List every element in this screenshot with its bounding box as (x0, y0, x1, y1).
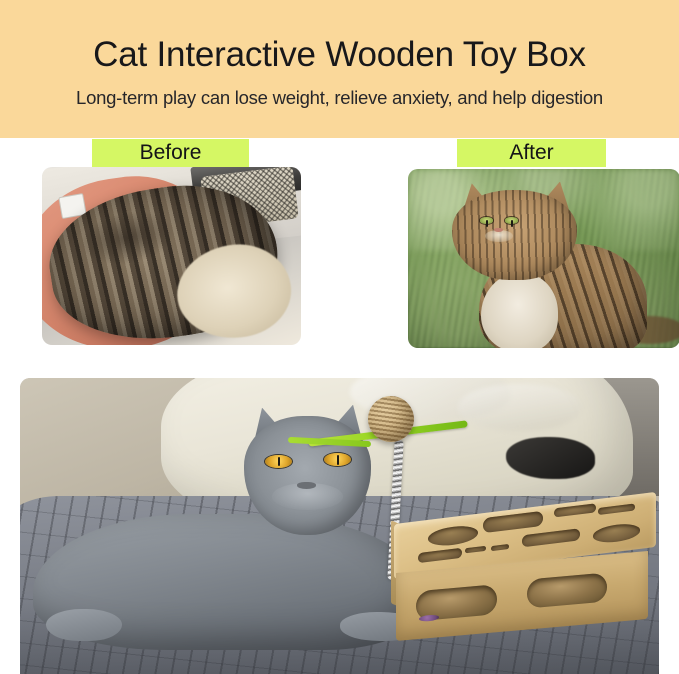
wooden-toy-box (394, 508, 656, 638)
cat-head-crown (79, 206, 177, 270)
toy-box-side-opening (527, 572, 607, 609)
before-photo-scene (42, 167, 301, 345)
cat-nose (494, 228, 503, 232)
after-label: After (457, 139, 606, 167)
gray-cat-eye-left (265, 455, 292, 468)
blanket-fold (458, 384, 581, 432)
toy-box-hole (598, 503, 635, 515)
page-title: Cat Interactive Wooden Toy Box (93, 35, 586, 75)
before-photo (42, 167, 301, 345)
black-cushion (506, 437, 595, 478)
cat-eye-right (505, 217, 518, 223)
toy-box-hole (522, 529, 580, 548)
cat-pupil-left (486, 220, 488, 227)
hero-product-photo (20, 378, 659, 674)
slim-cat-head (452, 190, 577, 280)
toy-box-hole (554, 504, 596, 518)
gray-cat-nose (297, 482, 316, 489)
toy-box-hole (465, 546, 486, 554)
after-photo (408, 169, 679, 348)
page-subtitle: Long-term play can lose weight, relieve … (76, 87, 603, 109)
hero-scene (20, 378, 659, 674)
sisal-ball (368, 396, 414, 442)
cat-eye-left (480, 217, 493, 223)
toy-box-hole (593, 523, 640, 545)
after-photo-scene (408, 169, 679, 348)
toy-box-hole (483, 511, 543, 533)
toy-box-hole (491, 544, 509, 551)
gray-cat-paw (46, 609, 123, 642)
gray-cat-pupil-left (278, 457, 280, 466)
cat-pupil-right (511, 220, 513, 227)
gray-cat-pupil-right (337, 455, 339, 464)
header-banner: Cat Interactive Wooden Toy Box Long-term… (0, 0, 679, 138)
before-label: Before (92, 139, 249, 167)
toy-box-hole (417, 548, 462, 563)
toy-box-hole (428, 524, 478, 549)
cat-chest-patch (481, 273, 557, 348)
